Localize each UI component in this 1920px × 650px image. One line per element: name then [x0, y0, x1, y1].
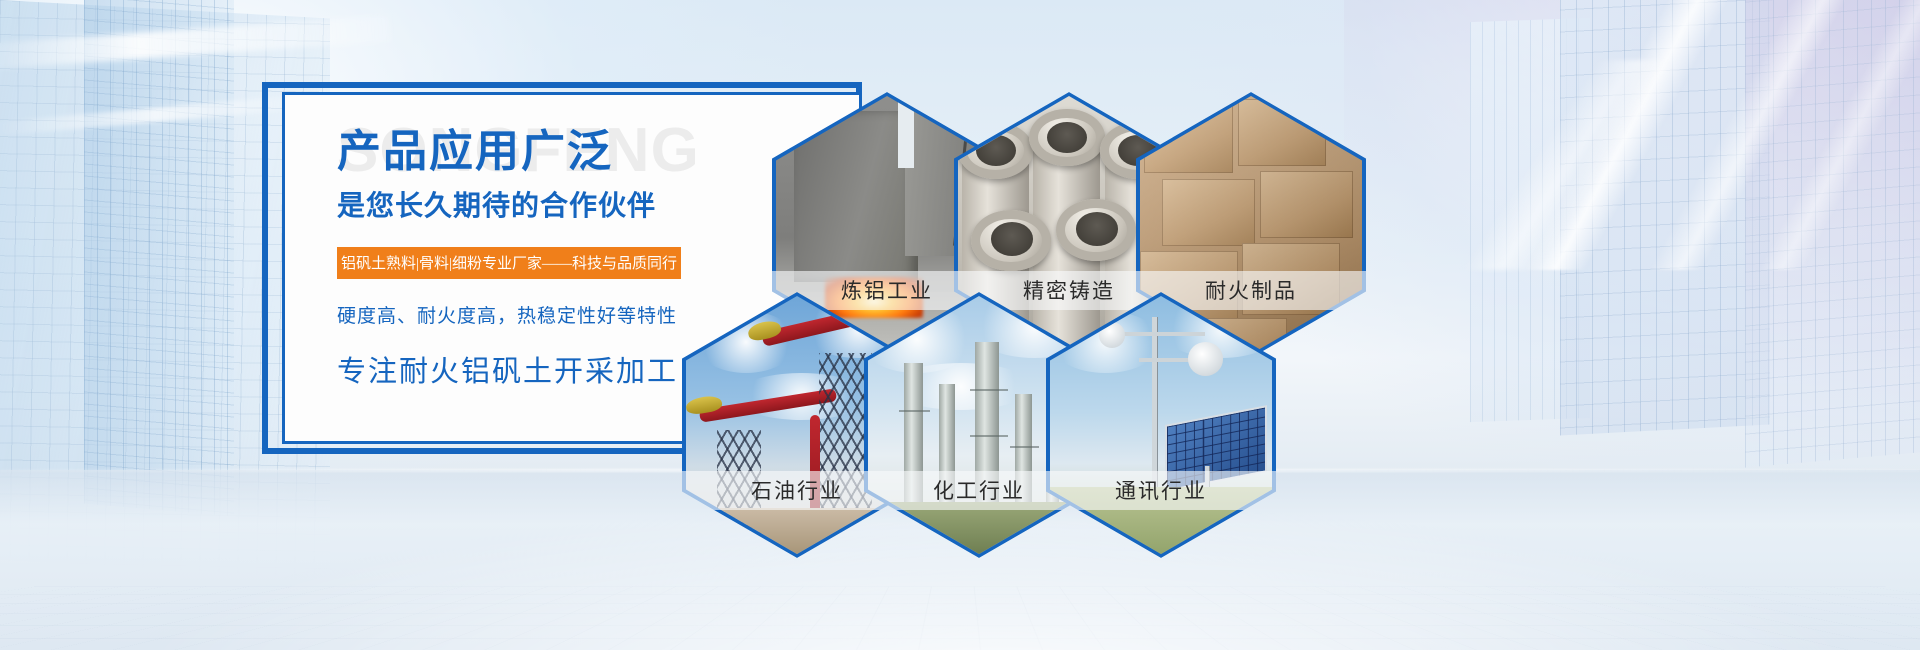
highlight-badge: 铝矾土熟料|骨料|细粉专业厂家——科技与品质同行: [337, 247, 681, 279]
hex-label: 通讯行业: [1046, 471, 1276, 510]
glass-facade-left-inner: [84, 0, 234, 517]
application-hexagon-cluster: 炼铝工业: [664, 86, 1324, 556]
light-streak-right-soft: [1400, 60, 1920, 270]
banner-stage: SONGFENG 产品应用广泛 是您长久期待的合作伙伴 铝矾土熟料|骨料|细粉专…: [0, 0, 1920, 650]
